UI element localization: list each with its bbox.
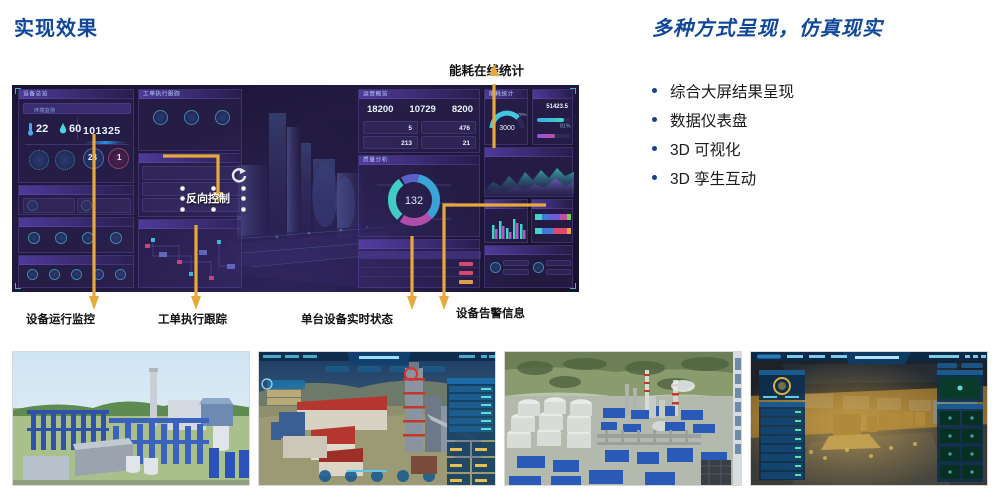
panel-process-diagram[interactable] xyxy=(138,219,242,288)
progress-value: 51423.5 xyxy=(546,104,568,110)
progress-bar xyxy=(537,118,570,122)
donut-center-value: 132 xyxy=(405,195,423,207)
panel-header xyxy=(19,218,133,227)
panel-work-order[interactable]: 工单执行跟踪 xyxy=(138,89,242,151)
panel-title: 工单执行跟踪 xyxy=(143,90,180,98)
corner-decoration xyxy=(570,88,576,94)
panel-trend-area-chart[interactable] xyxy=(484,147,573,197)
thermometer-icon xyxy=(27,122,34,136)
status-row xyxy=(77,198,131,213)
gauge-percent: 70% xyxy=(517,112,526,117)
bullet-dot-icon xyxy=(652,117,657,122)
metric-value: 22 xyxy=(36,123,48,135)
donut-chart: 132 xyxy=(359,167,481,237)
panel-title xyxy=(143,154,149,162)
panel-header xyxy=(19,186,133,195)
selection-handle[interactable] xyxy=(241,196,246,201)
bullet-label: 综合大屏结果呈现 xyxy=(670,80,794,102)
panel-alarm-table[interactable] xyxy=(358,239,480,288)
panel-header: 能耗统计 xyxy=(485,90,527,99)
device-icon[interactable] xyxy=(55,232,67,244)
bar-chart xyxy=(485,211,529,243)
counter-badge: 1 xyxy=(108,148,129,169)
panel-header xyxy=(532,200,572,209)
dashboard-screenshot: 设备总览 环境监测 22 60 101325 xyxy=(12,85,579,292)
work-order-icon[interactable] xyxy=(215,110,230,125)
subpanel-environment: 环境监测 xyxy=(23,103,131,114)
corner-decoration xyxy=(570,283,576,289)
device-icon[interactable] xyxy=(93,269,104,280)
arrow-down-icon xyxy=(439,296,449,310)
thumbnail-warehouse-interior-3d[interactable] xyxy=(750,351,988,486)
pressure-value: 101325 xyxy=(83,125,120,137)
panel-title xyxy=(489,246,495,254)
list-item: 3D 可视化 xyxy=(652,134,794,163)
bullet-dot-icon xyxy=(652,175,657,180)
callout-label-device-monitor: 设备运行监控 xyxy=(26,311,95,327)
panel-quality-donut[interactable]: 质量分析 132 xyxy=(358,155,480,237)
panel-header: 质量分析 xyxy=(359,156,479,165)
counter-badge: 24 xyxy=(83,148,104,169)
progress-fill xyxy=(537,118,564,122)
table-header xyxy=(359,251,481,259)
panel-divider xyxy=(77,118,78,140)
panel-header: 运营概览 xyxy=(359,90,479,99)
stat-value: 10729 xyxy=(409,104,435,115)
callout-label-device-realtime: 单台设备实时状态 xyxy=(301,311,393,327)
progress-percent: 81% xyxy=(560,123,571,129)
panel-header xyxy=(359,240,479,249)
selected-element-label[interactable]: 反向控制 xyxy=(186,190,230,206)
list-item[interactable] xyxy=(546,260,571,266)
panel-title: 设备总览 xyxy=(23,90,48,98)
area-chart xyxy=(485,160,574,198)
stat-tile-value: 21 xyxy=(463,140,470,147)
work-order-icon[interactable] xyxy=(153,110,168,125)
list-item[interactable] xyxy=(503,269,529,275)
stat-tile-value: 5 xyxy=(408,125,412,132)
gauge-value: 3000 xyxy=(499,125,515,132)
panel-work-order-list[interactable] xyxy=(138,153,242,217)
device-icon[interactable] xyxy=(115,269,126,280)
metric-value: 60 xyxy=(69,123,81,135)
list-item[interactable] xyxy=(503,260,529,266)
thumbnail-cement-plant-digital-twin[interactable] xyxy=(258,351,496,486)
arrow-down-icon xyxy=(407,296,417,310)
list-item[interactable] xyxy=(546,269,571,275)
panel-device-overview[interactable]: 设备总览 环境监测 22 60 101325 xyxy=(18,89,134,183)
arrow-down-icon xyxy=(191,296,201,310)
status-gauge xyxy=(29,150,49,170)
bullet-label: 3D 可视化 xyxy=(670,138,741,160)
panel-stacked-bars[interactable] xyxy=(531,199,573,243)
stat-value: 18200 xyxy=(367,104,393,115)
panel-header: 设备总览 xyxy=(19,90,133,99)
stacked-bar-row xyxy=(535,214,571,220)
list-item[interactable] xyxy=(142,166,240,180)
thumbnail-plant-3d-overview[interactable] xyxy=(12,351,250,486)
panel-device-list-right[interactable] xyxy=(484,245,573,288)
panel-progress[interactable]: 51423.5 81% xyxy=(532,89,573,145)
panel-title: 运营概览 xyxy=(363,90,388,98)
panel-title xyxy=(363,240,369,248)
panel-header xyxy=(533,90,572,99)
callout-label-work-order: 工单执行跟踪 xyxy=(158,311,227,327)
device-icon[interactable] xyxy=(28,232,40,244)
selection-handle[interactable] xyxy=(211,186,216,191)
status-gauge xyxy=(55,150,75,170)
panel-title xyxy=(23,256,29,264)
refresh-icon[interactable] xyxy=(230,166,248,184)
panel-device-group-b[interactable] xyxy=(18,255,134,288)
stat-tile: 213 xyxy=(363,136,418,149)
counter-value: 24 xyxy=(88,153,97,162)
bullet-dot-icon xyxy=(652,146,657,151)
panel-header xyxy=(485,200,527,209)
process-flow-diagram xyxy=(139,232,243,288)
feature-bullet-list: 综合大屏结果呈现 数据仪表盘 3D 可视化 3D 孪生互动 xyxy=(652,76,794,192)
panel-device-status[interactable] xyxy=(18,185,134,215)
panel-energy-gauge[interactable]: 能耗统计 3000 70% xyxy=(484,89,528,145)
stat-tile: 476 xyxy=(421,121,476,134)
page-title-right: 多种方式呈现，仿真现实 xyxy=(652,12,883,41)
stat-value: 8200 xyxy=(452,104,473,115)
panel-header xyxy=(139,154,241,163)
selection-handle[interactable] xyxy=(241,186,246,191)
selection-handle[interactable] xyxy=(211,207,216,212)
subpanel-title: 环境监测 xyxy=(34,106,55,114)
metric-pressure: 101325 xyxy=(83,121,127,144)
alarm-badge xyxy=(459,262,473,266)
list-item: 3D 孪生互动 xyxy=(652,163,794,192)
panel-production-overview[interactable]: 运营概览 18200 10729 8200 5 476 213 21 xyxy=(358,89,480,153)
panel-title: 质量分析 xyxy=(363,156,388,164)
device-icon[interactable] xyxy=(49,269,60,280)
work-order-icon[interactable] xyxy=(184,110,199,125)
panel-title xyxy=(23,186,29,194)
stat-tile: 5 xyxy=(363,121,418,134)
panel-bar-chart-left[interactable] xyxy=(484,199,528,243)
panel-header xyxy=(485,246,572,255)
panel-title xyxy=(23,218,29,226)
callout-label-alarm-info: 设备告警信息 xyxy=(456,305,525,321)
status-row xyxy=(23,198,75,213)
panel-header xyxy=(139,220,241,229)
panel-header xyxy=(19,256,133,265)
callout-label-energy: 能耗在线统计 xyxy=(449,60,524,79)
panel-title xyxy=(489,200,495,208)
selection-handle[interactable] xyxy=(180,186,185,191)
selection-handle[interactable] xyxy=(241,207,246,212)
device-icon[interactable] xyxy=(533,262,544,273)
counter-value: 1 xyxy=(117,153,121,162)
arrow-down-icon xyxy=(89,296,99,310)
stat-tile-value: 476 xyxy=(459,125,470,132)
progress-fill xyxy=(537,134,555,138)
panel-device-group-a[interactable] xyxy=(18,217,134,253)
alarm-badge xyxy=(459,280,473,284)
panel-divider xyxy=(25,144,129,145)
corner-decoration xyxy=(15,283,21,289)
device-icon[interactable] xyxy=(82,232,94,244)
selection-handle[interactable] xyxy=(180,207,185,212)
device-icon[interactable] xyxy=(71,269,82,280)
humidity-icon xyxy=(59,122,67,135)
panel-title xyxy=(536,200,542,208)
gauge-chart: 3000 70% xyxy=(485,102,529,144)
list-item: 数据仪表盘 xyxy=(652,105,794,134)
panel-header: 工单执行跟踪 xyxy=(139,90,241,99)
stacked-bar-row xyxy=(535,228,571,234)
device-icon[interactable] xyxy=(110,232,122,244)
corner-decoration xyxy=(15,88,21,94)
metric-temperature: 22 xyxy=(27,122,48,136)
bullet-label: 3D 孪生互动 xyxy=(670,167,756,189)
selection-handle[interactable] xyxy=(180,196,185,201)
stat-group: 18200 10729 8200 xyxy=(359,104,481,115)
thumbnail-refinery-aerial-3d[interactable] xyxy=(504,351,742,486)
panel-header xyxy=(485,148,572,157)
panel-title xyxy=(489,148,495,156)
panel-title xyxy=(537,90,543,98)
panel-title xyxy=(143,220,149,228)
bullet-label: 数据仪表盘 xyxy=(670,109,748,131)
list-item: 综合大屏结果呈现 xyxy=(652,76,794,105)
page-title-left: 实现效果 xyxy=(14,12,98,41)
alarm-badge xyxy=(459,271,473,275)
device-icon[interactable] xyxy=(490,262,501,273)
stat-tile-value: 213 xyxy=(401,140,412,147)
progress-bar xyxy=(537,134,570,138)
bullet-dot-icon xyxy=(652,88,657,93)
panel-title: 能耗统计 xyxy=(489,90,514,98)
device-icon[interactable] xyxy=(27,269,38,280)
slide-root: 实现效果 多种方式呈现，仿真现实 综合大屏结果呈现 数据仪表盘 3D 可视化 3… xyxy=(0,0,1000,498)
thumbnail-strip xyxy=(12,351,988,486)
stat-tile: 21 xyxy=(421,136,476,149)
